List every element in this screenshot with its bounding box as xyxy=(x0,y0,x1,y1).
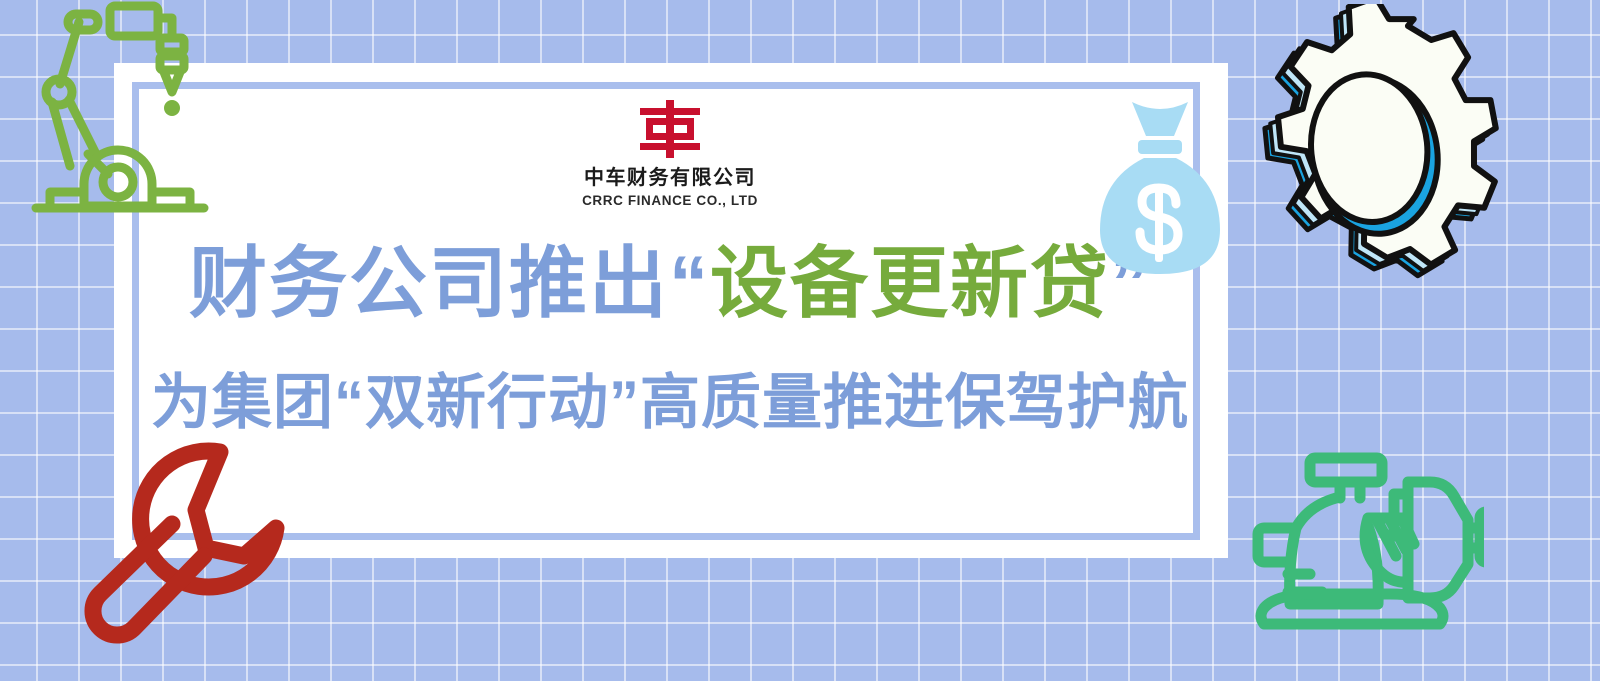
headline-line2-prefix: 为集团 xyxy=(151,369,334,436)
headline-line1-highlight: 设备更新贷 xyxy=(710,239,1110,327)
headline-line1-quote-open: “ xyxy=(669,239,710,327)
crrc-zhong-character-logo xyxy=(638,100,702,158)
headline-line2-quoted: 双新行动 xyxy=(365,369,609,436)
bench-vise-icon xyxy=(1222,432,1484,658)
wrench-icon xyxy=(74,436,300,654)
headline-line2-suffix: 高质量推进保驾护航 xyxy=(640,369,1189,436)
headline-line2-quote-close: ” xyxy=(609,369,640,436)
headline-line-2: 为集团“双新行动”高质量推进保驾护航 xyxy=(0,369,1340,436)
headline-line2-quote-open: “ xyxy=(334,369,365,436)
robot-arm-icon xyxy=(22,0,218,220)
money-bag-icon xyxy=(1092,96,1228,282)
gear-icon xyxy=(1228,4,1524,304)
poster-canvas: 中车财务有限公司 CRRC FINANCE CO., LTD 财务公司推出“设备… xyxy=(0,0,1600,681)
headline-line1-prefix: 财务公司推出 xyxy=(189,239,669,327)
